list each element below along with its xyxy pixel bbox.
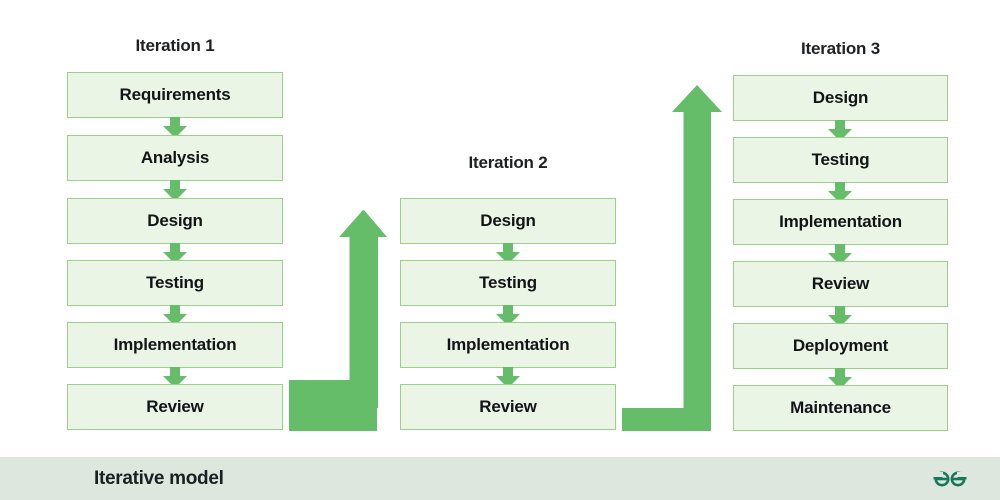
phase-box-requirements[interactable]: Requirements	[67, 72, 283, 118]
iteration-2-title: Iteration 2	[400, 153, 616, 173]
phase-box-analysis[interactable]: Analysis	[67, 135, 283, 181]
phase-box-testing[interactable]: Testing	[400, 260, 616, 306]
phase-box-design[interactable]: Design	[400, 198, 616, 244]
phase-box-implementation[interactable]: Implementation	[67, 322, 283, 368]
phase-box-design[interactable]: Design	[67, 198, 283, 244]
phase-box-testing[interactable]: Testing	[67, 260, 283, 306]
phase-box-review[interactable]: Review	[733, 261, 948, 307]
phase-box-review[interactable]: Review	[400, 384, 616, 430]
phase-box-design[interactable]: Design	[733, 75, 948, 121]
iteration-2-to-3-arrow	[622, 83, 722, 431]
phase-box-testing[interactable]: Testing	[733, 137, 948, 183]
phase-box-implementation[interactable]: Implementation	[400, 322, 616, 368]
phase-box-implementation[interactable]: Implementation	[733, 199, 948, 245]
phase-box-deployment[interactable]: Deployment	[733, 323, 948, 369]
figure-caption: Iterative model	[94, 457, 224, 500]
footer-bar: Iterative model	[0, 457, 1000, 500]
iteration-3-title: Iteration 3	[733, 39, 948, 59]
iteration-1-title: Iteration 1	[67, 36, 283, 56]
iteration-1-to-2-arrow	[289, 208, 387, 431]
diagram-canvas: Iteration 1 Requirements Analysis Design…	[0, 0, 1000, 500]
phase-box-maintenance[interactable]: Maintenance	[733, 385, 948, 431]
phase-box-review[interactable]: Review	[67, 384, 283, 430]
geeksforgeeks-logo-icon	[928, 467, 972, 491]
